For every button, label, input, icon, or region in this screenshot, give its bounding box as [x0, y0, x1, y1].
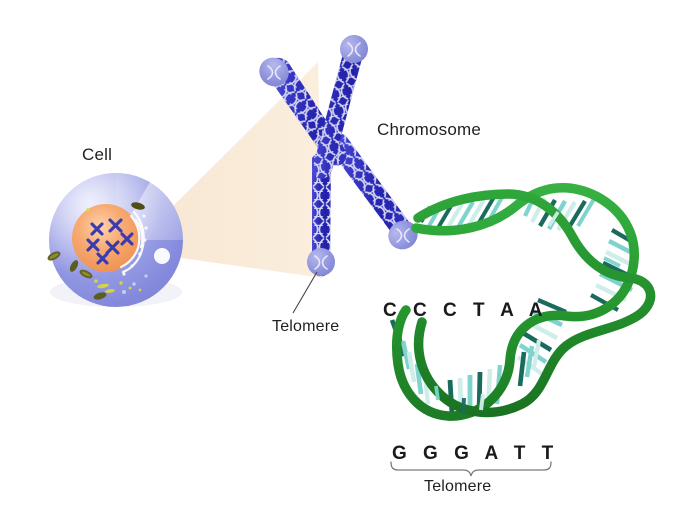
- dna-sequence-bottom-strand: G G G A T T: [392, 443, 559, 465]
- vacuole-icon: [154, 248, 170, 264]
- telomere-cap-bottom-left: [307, 248, 335, 276]
- chromosome-label: Chromosome: [377, 120, 481, 140]
- telomere-chromosome-label: Telomere: [272, 318, 339, 336]
- diagram-canvas: [0, 0, 700, 526]
- cell-label: Cell: [82, 145, 112, 165]
- dna-sequence-top-strand: C C C T A A: [383, 300, 548, 322]
- leader-line-icon: [293, 272, 317, 313]
- cell-icon: [46, 173, 183, 307]
- telomere-dna-label: Telomere: [424, 478, 491, 496]
- telomere-diagram: Cell Chromosome Telomere C C C T A A G G…: [0, 0, 700, 526]
